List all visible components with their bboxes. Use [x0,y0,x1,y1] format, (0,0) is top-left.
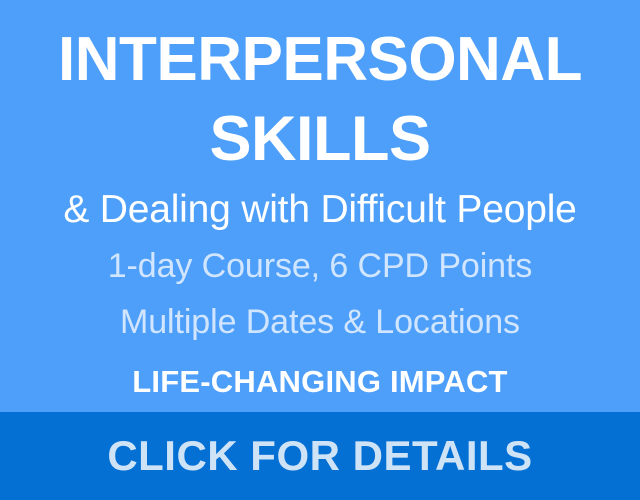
impact-tagline: LIFE-CHANGING IMPACT [0,366,640,397]
course-detail-dates: Multiple Dates & Locations [0,305,640,339]
banner-content: INTERPERSONAL SKILLS & Dealing with Diff… [0,0,640,412]
banner-subtitle: & Dealing with Difficult People [0,190,640,229]
click-for-details-button[interactable]: CLICK FOR DETAILS [0,412,640,500]
advertisement-banner[interactable]: INTERPERSONAL SKILLS & Dealing with Diff… [0,0,640,500]
headline-line-2: SKILLS [0,108,640,171]
course-detail-duration: 1-day Course, 6 CPD Points [0,249,640,283]
cta-label: CLICK FOR DETAILS [107,435,532,477]
headline-line-1: INTERPERSONAL [0,29,640,91]
